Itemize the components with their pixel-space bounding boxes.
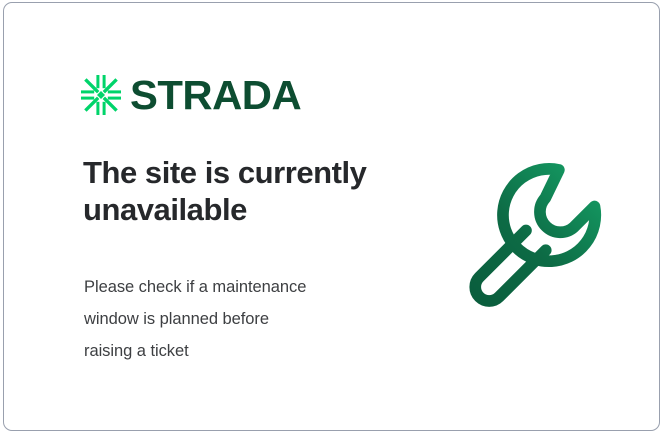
brand-wordmark: STRADA (130, 75, 301, 116)
page-title: The site is currently unavailable (83, 154, 413, 228)
description-line: raising a ticket (84, 335, 404, 367)
wrench-icon (456, 155, 618, 317)
description-line: window is planned before (84, 303, 404, 335)
status-card: STRADA The site is currently unavailable… (3, 2, 660, 431)
brand-logo: STRADA (81, 69, 298, 121)
description-line: Please check if a maintenance (84, 271, 404, 303)
page-description: Please check if a maintenance window is … (84, 271, 404, 368)
strada-asterisk-icon (81, 75, 121, 115)
error-page: STRADA The site is currently unavailable… (0, 0, 666, 436)
maintenance-illustration (456, 155, 618, 317)
